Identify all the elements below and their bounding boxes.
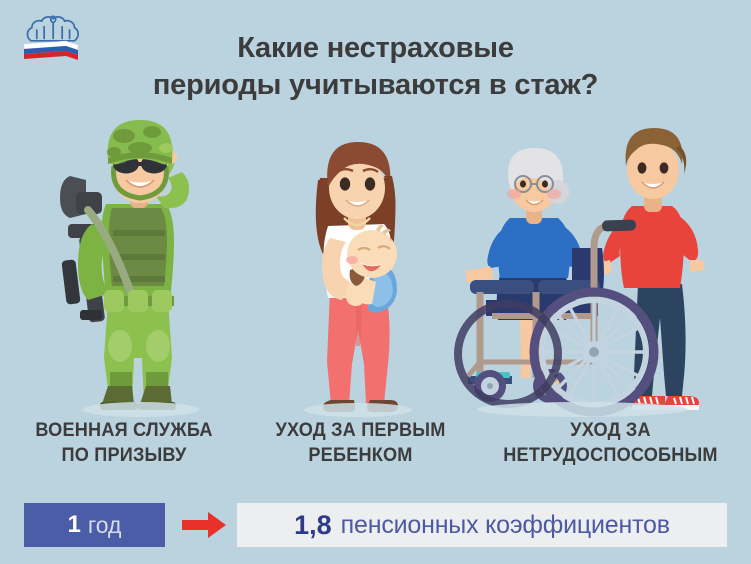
right-arrow-icon [182, 512, 226, 538]
infographic-page: Какие нестраховые периоды учитываются в … [0, 0, 751, 564]
caption-military-service: ВОЕННАЯ СЛУЖБА ПО ПРИЗЫВУ [9, 418, 240, 469]
year-number: 1 [68, 511, 81, 539]
page-title: Какие нестраховые периоды учитываются в … [0, 30, 751, 103]
soldier-shadow [83, 402, 199, 417]
caption-first-child-care: УХОД ЗА ПЕРВЫМ РЕБЕНКОМ [256, 418, 465, 469]
captions-row: ВОЕННАЯ СЛУЖБА ПО ПРИЗЫВУ УХОД ЗА ПЕРВЫМ… [0, 418, 751, 480]
care-shadow [477, 402, 687, 417]
large-wheel [534, 292, 654, 412]
title-line-1: Какие нестраховые [0, 30, 751, 67]
caption-line: УХОД ЗА [480, 418, 741, 443]
caption-line: ПО ПРИЗЫВУ [9, 443, 240, 468]
year-unit: год [88, 512, 122, 539]
caption-line: НЕТРУДОСПОСОБНЫМ [480, 443, 741, 468]
caption-disabled-person-care: УХОД ЗА НЕТРУДОСПОСОБНЫМ [480, 418, 741, 469]
coefficient-badge: 1,8 пенсионных коэффициентов [237, 503, 727, 547]
year-badge: 1 год [24, 503, 165, 547]
caregiver-and-wheelchair-illustration [462, 114, 712, 414]
soldier-illustration [46, 114, 236, 414]
mother-shadow [304, 403, 412, 417]
helmet-icon [107, 120, 173, 165]
coefficient-label: пенсионных коэффициентов [341, 511, 670, 540]
caption-line: РЕБЕНКОМ [256, 443, 465, 468]
coefficient-value: 1,8 [294, 510, 332, 541]
illustration-stage [0, 108, 751, 414]
caption-line: УХОД ЗА ПЕРВЫМ [256, 418, 465, 443]
caption-line: ВОЕННАЯ СЛУЖБА [9, 418, 240, 443]
mother-with-baby-illustration [278, 114, 438, 414]
result-bar: 1 год 1,8 пенсионных коэффициентов [0, 503, 751, 551]
title-line-2: периоды учитываются в стаж? [0, 67, 751, 104]
